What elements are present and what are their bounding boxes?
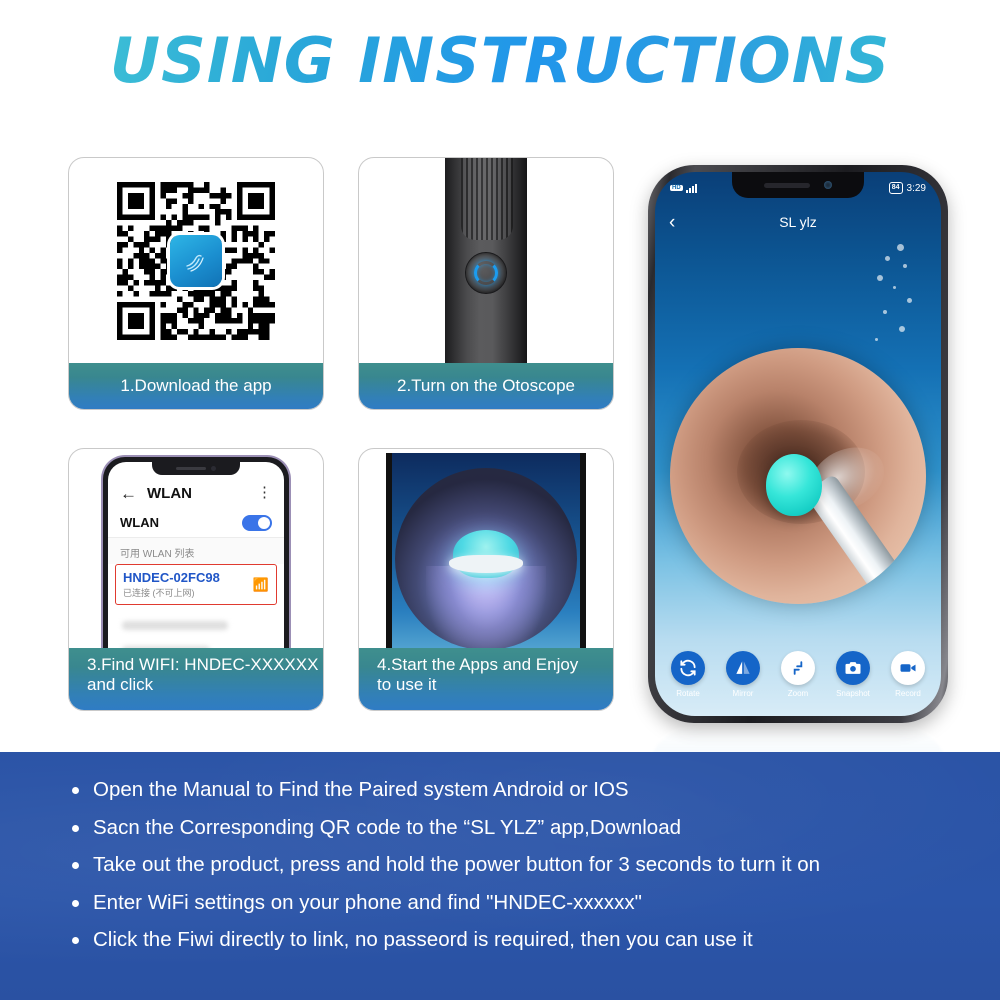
bullet-dot-icon (72, 825, 79, 832)
step-card-caption: 3.Find WIFI: HNDEC-XXXXXX and click (69, 648, 323, 710)
toolbar-label: Mirror (720, 689, 766, 698)
power-button[interactable] (465, 252, 507, 294)
toolbar-label: Record (885, 689, 931, 698)
bullet-dot-icon (72, 787, 79, 794)
wlan-network-status: 已连接 (不可上网) (123, 586, 220, 599)
device-card-body (359, 158, 613, 363)
app-nav-bar: ‹ SL ylz (655, 208, 941, 236)
speaker-grille-icon (176, 467, 206, 470)
wlan-blurred-row (122, 621, 228, 630)
toolbar-button-record[interactable]: Record (885, 651, 931, 698)
zoom-icon (781, 651, 815, 685)
instruction-item: Take out the product, press and hold the… (72, 853, 1000, 878)
wlan-header-title: WLAN (147, 485, 192, 502)
caption-line-2: to use it (377, 675, 437, 694)
bullet-dot-icon (72, 937, 79, 944)
caption-line-1: 4.Start the Apps and Enjoy (377, 655, 578, 674)
signal-bars-icon (686, 184, 697, 193)
wlan-card-body: ← WLAN ⋮ WLAN 可用 WLAN 列表 HNDEC-02FC98 已连… (69, 449, 323, 648)
endoscope-highlight (449, 555, 523, 573)
instruction-item: Click the Fiwi directly to link, no pass… (72, 928, 1000, 953)
endoscope-card-body (359, 449, 613, 648)
instruction-text: Take out the product, press and hold the… (93, 853, 820, 878)
endoscope-phone-view (386, 453, 586, 648)
bullet-dot-icon (72, 900, 79, 907)
step-card-caption: 4.Start the Apps and Enjoy to use it (359, 648, 613, 710)
video-icon (891, 651, 925, 685)
wlan-toggle-switch[interactable] (242, 515, 272, 531)
status-right: 84 3:29 (889, 182, 926, 194)
camera-icon (836, 651, 870, 685)
qr-code[interactable] (117, 182, 275, 340)
step-card-wifi: ← WLAN ⋮ WLAN 可用 WLAN 列表 HNDEC-02FC98 已连… (68, 448, 324, 711)
chevron-left-icon[interactable]: ‹ (669, 213, 675, 232)
endoscope-glow (426, 566, 546, 648)
step-card-startapp: 4.Start the Apps and Enjoy to use it (358, 448, 614, 711)
status-time: 3:29 (907, 183, 926, 194)
bullet-dot-icon (72, 862, 79, 869)
instruction-text: Enter WiFi settings on your phone and fi… (93, 891, 642, 916)
step-card-caption: 1.Download the app (69, 363, 323, 409)
instruction-text: Click the Fiwi directly to link, no pass… (93, 928, 753, 953)
wlan-phone-mockup: ← WLAN ⋮ WLAN 可用 WLAN 列表 HNDEC-02FC98 已连… (103, 457, 289, 648)
instruction-item: Open the Manual to Find the Paired syste… (72, 778, 1000, 803)
back-arrow-icon[interactable]: ← (120, 485, 137, 502)
toolbar-label: Rotate (665, 689, 711, 698)
step-card-download: 1.Download the app (68, 157, 324, 410)
step-card-poweron: 2.Turn on the Otoscope (358, 157, 614, 410)
instruction-text: Sacn the Corresponding QR code to the “S… (93, 816, 681, 841)
front-camera-icon (211, 466, 216, 471)
toolbar-label: Snapshot (830, 689, 876, 698)
probe-tip (766, 454, 822, 516)
toolbar-label: Zoom (775, 689, 821, 698)
page-title: USING INSTRUCTIONS (110, 24, 891, 97)
qr-card-body (69, 158, 323, 363)
instruction-item: Enter WiFi settings on your phone and fi… (72, 891, 1000, 916)
otoscope-device (445, 158, 527, 363)
caption-line-2: and click (87, 675, 153, 694)
power-ring-icon (474, 261, 498, 285)
toolbar-button-rotate[interactable]: Rotate (665, 651, 711, 698)
step-card-caption: 2.Turn on the Otoscope (359, 363, 613, 409)
page-header: USING INSTRUCTIONS (0, 24, 1000, 97)
device-grip-ribs (461, 158, 513, 240)
wlan-section-label: 可用 WLAN 列表 (108, 538, 284, 564)
phone-screen: HD 84 3:29 ‹ SL ylz (655, 172, 941, 716)
status-left: HD (670, 184, 697, 193)
toolbar-button-snapshot[interactable]: Snapshot (830, 651, 876, 698)
wlan-network-ssid: HNDEC-02FC98 (123, 570, 220, 585)
phone-mockup: HD 84 3:29 ‹ SL ylz (648, 165, 948, 723)
wlan-screen: ← WLAN ⋮ WLAN 可用 WLAN 列表 HNDEC-02FC98 已连… (108, 462, 284, 648)
endoscope-circle-view (395, 468, 577, 648)
battery-indicator: 84 (889, 182, 903, 194)
mirror-icon (726, 651, 760, 685)
camera-toolbar: Rotate Mirror Zoom (655, 651, 941, 698)
app-title: SL ylz (655, 214, 941, 230)
app-logo-icon (170, 235, 222, 287)
toggle-knob (258, 517, 270, 529)
wlan-toggle-row[interactable]: WLAN (108, 508, 284, 538)
more-vertical-icon[interactable]: ⋮ (257, 487, 272, 499)
rotate-icon (671, 651, 705, 685)
ear-canal-view (670, 348, 926, 604)
toolbar-button-mirror[interactable]: Mirror (720, 651, 766, 698)
caption-line-1: 3.Find WIFI: HNDEC-XXXXXX (87, 655, 318, 674)
instruction-item: Sacn the Corresponding QR code to the “S… (72, 816, 1000, 841)
wlan-network-row[interactable]: HNDEC-02FC98 已连接 (不可上网) 📶 (115, 564, 277, 605)
wlan-app-bar: ← WLAN ⋮ (108, 478, 284, 508)
status-bar: HD 84 3:29 (655, 179, 941, 197)
wifi-icon: 📶 (253, 577, 269, 593)
water-bubbles (863, 242, 923, 352)
toolbar-button-zoom[interactable]: Zoom (775, 651, 821, 698)
phone-notch (152, 462, 240, 475)
hd-badge: HD (670, 185, 683, 191)
instruction-text: Open the Manual to Find the Paired syste… (93, 778, 629, 803)
instructions-panel: Open the Manual to Find the Paired syste… (0, 752, 1000, 1000)
wlan-toggle-label: WLAN (120, 515, 159, 530)
